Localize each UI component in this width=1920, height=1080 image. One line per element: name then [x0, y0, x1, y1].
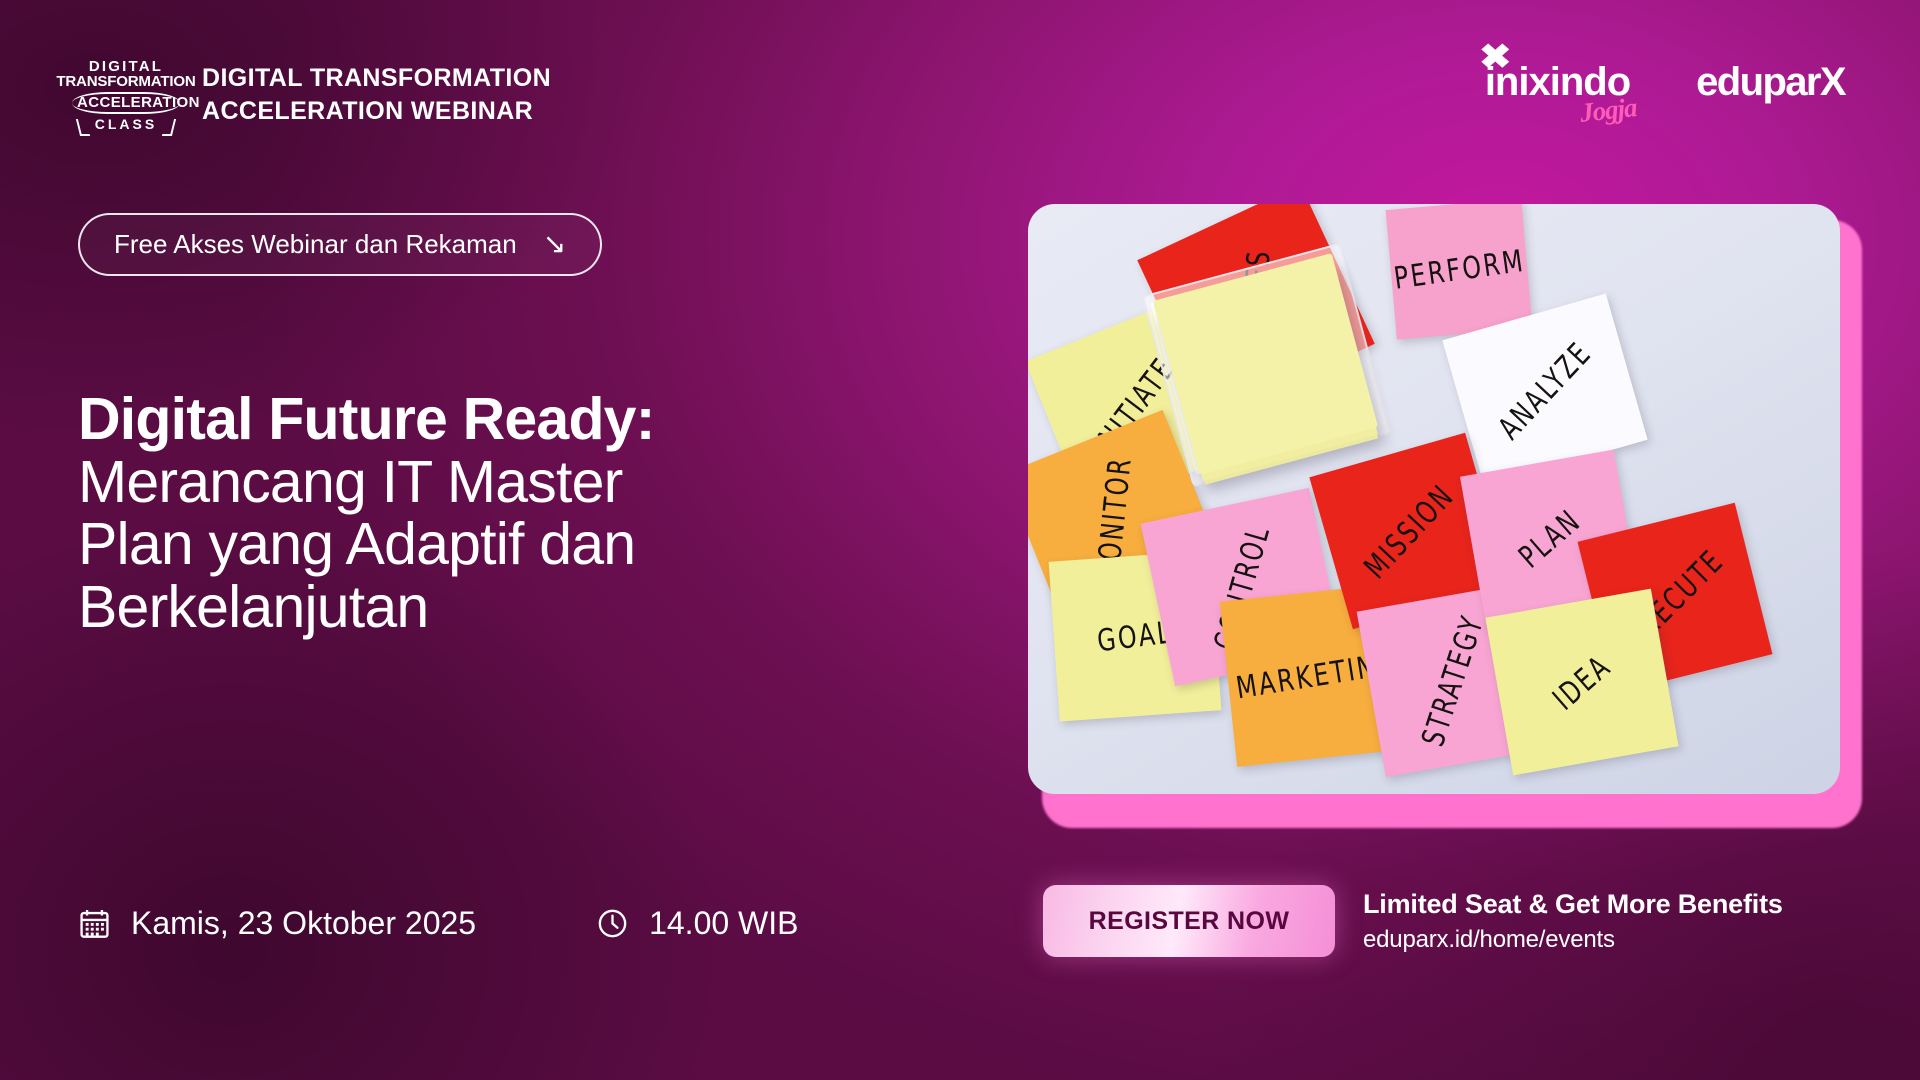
header-title-line-1: DIGITAL TRANSFORMATION	[202, 62, 551, 95]
badge-wing-right	[162, 119, 176, 136]
cta-text: Limited Seat & Get More Benefits eduparx…	[1363, 888, 1783, 954]
inixindo-jogja-script: Jogja	[1578, 92, 1637, 129]
clock-icon	[596, 907, 629, 940]
partner-logos: ✖ inixindo Jogja eduparX	[1485, 62, 1845, 102]
header: DIGITAL TRANSFORMATION ACCELERATION CLAS…	[72, 52, 551, 138]
event-date: Kamis, 23 Oktober 2025	[78, 905, 476, 942]
arrow-down-right-icon: ↘	[543, 230, 566, 258]
cta-url: eduparx.id/home/events	[1363, 926, 1783, 954]
headline-line-4: Berkelanjutan	[78, 576, 878, 639]
header-title: DIGITAL TRANSFORMATION ACCELERATION WEBI…	[202, 62, 551, 128]
sticky-note-label: IDEA	[1546, 647, 1618, 716]
sticky-note: IDEA	[1485, 589, 1678, 776]
cta-block: REGISTER NOW Limited Seat & Get More Ben…	[1043, 885, 1783, 957]
badge-line-4: CLASS	[95, 117, 157, 131]
eduparx-wordmark: edupar	[1696, 60, 1820, 104]
header-title-line-2: ACCELERATION WEBINAR	[202, 95, 551, 128]
free-access-label: Free Akses Webinar dan Rekaman	[114, 229, 517, 260]
inixindo-x-mark-icon: ✖	[1479, 40, 1512, 74]
webinar-banner: DIGITAL TRANSFORMATION ACCELERATION CLAS…	[0, 0, 1920, 1080]
badge-line-1: DIGITAL	[89, 59, 163, 74]
dtac-class-logo: DIGITAL TRANSFORMATION ACCELERATION CLAS…	[72, 52, 180, 138]
sticky-note: PERFORM	[1386, 204, 1533, 340]
event-meta: Kamis, 23 Oktober 2025 14.00 WIB	[78, 905, 798, 942]
headline-line-3: Plan yang Adaptif dan	[78, 513, 878, 576]
sticky-note-label: PERFORM	[1391, 242, 1526, 295]
eduparx-logo: eduparX	[1696, 62, 1845, 102]
sticky-notes-photo: INITIATESUCCESPERFORMANALYZEMONITORGOALC…	[1028, 204, 1840, 794]
register-now-button[interactable]: REGISTER NOW	[1043, 885, 1335, 957]
headline-line-1: Digital Future Ready:	[78, 388, 878, 451]
event-time-label: 14.00 WIB	[649, 905, 798, 942]
badge-wing-left	[76, 119, 90, 136]
sticky-note-label: STRATEGY	[1415, 610, 1491, 750]
badge-line-3: ACCELERATION	[72, 92, 180, 114]
page-title: Digital Future Ready: Merancang IT Maste…	[78, 388, 878, 638]
badge-line-2: TRANSFORMATION	[56, 75, 195, 90]
sticky-note-label: MISSION	[1357, 477, 1461, 585]
cta-headline: Limited Seat & Get More Benefits	[1363, 888, 1783, 922]
eduparx-x-mark: X	[1820, 60, 1845, 104]
event-time: 14.00 WIB	[596, 905, 798, 942]
sticky-note-label: PLAN	[1512, 502, 1588, 575]
photo-card: INITIATESUCCESPERFORMANALYZEMONITORGOALC…	[1028, 204, 1848, 812]
event-date-label: Kamis, 23 Oktober 2025	[131, 905, 476, 942]
sticky-note-label: ANALYZE	[1491, 334, 1599, 446]
calendar-icon	[78, 907, 111, 940]
free-access-pill[interactable]: Free Akses Webinar dan Rekaman ↘	[78, 213, 602, 276]
headline-line-2: Merancang IT Master	[78, 451, 878, 514]
inixindo-logo: ✖ inixindo Jogja	[1485, 62, 1630, 102]
